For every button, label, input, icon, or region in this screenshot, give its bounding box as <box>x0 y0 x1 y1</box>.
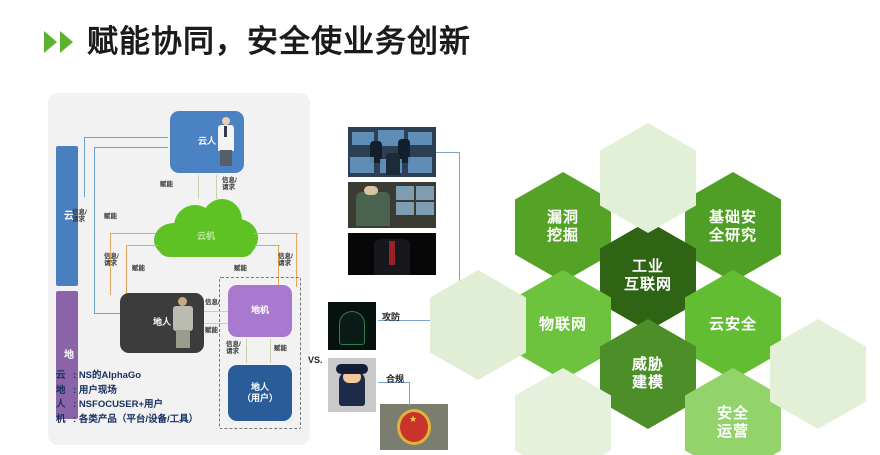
hex-cell[interactable]: 基础安全研究 <box>685 172 781 282</box>
label-attack-defense: 攻防 <box>382 310 400 323</box>
hex-cell[interactable]: 漏洞挖掘 <box>515 172 611 282</box>
legend-row: 人 : NSFOCUSER+用户 <box>56 398 226 413</box>
node-cloud-person-label: 云人 <box>198 136 216 147</box>
hex-cell-label: 工业互联网 <box>624 258 672 293</box>
hooded-hacker-photo <box>328 302 376 350</box>
hex-cell-label: 云安全 <box>709 316 757 334</box>
node-ground-user-label: 地人 （用户） <box>242 382 278 405</box>
edge-label-empower: 赋能 <box>234 265 247 272</box>
legend-key: 人 <box>56 398 73 413</box>
hex-cell[interactable]: 威胁建模 <box>600 319 696 429</box>
connector-line <box>94 313 120 314</box>
legend-row: 地 : 用户现场 <box>56 384 226 399</box>
hex-cell-empty <box>430 270 526 380</box>
connector-line <box>84 137 168 138</box>
legend-key: 地 <box>56 384 73 399</box>
hexagon-cluster: 漏洞挖掘基础安全研究工业互联网物联网云安全威胁建模安全运营 <box>466 100 880 455</box>
suited-figure-photo <box>348 233 436 275</box>
hex-cell-label: 威胁建模 <box>632 356 664 391</box>
hex-cell-empty <box>770 319 866 429</box>
node-ground-user: 地人 （用户） <box>228 365 292 421</box>
cloud-ground-diagram-panel: 云 地 云人 赋能 信息/ 请求 云机 <box>48 93 310 445</box>
node-ground-person-label: 地人 <box>153 317 171 328</box>
soc-room-photo <box>348 127 436 177</box>
edge-label-info-request: 信息/ 请求 <box>226 341 241 356</box>
connector-line <box>126 245 158 246</box>
hex-cell[interactable]: 物联网 <box>515 270 611 380</box>
slide-canvas: 赋能协同，安全使业务创新 云 地 云人 赋能 信息/ 请求 <box>0 0 880 455</box>
national-emblem-photo: ★ <box>380 404 448 450</box>
connector-line <box>94 147 168 148</box>
legend-value: NS的AlphaGo <box>79 369 141 384</box>
connector-line <box>204 323 228 324</box>
edge-label-empower: 赋能 <box>205 327 218 334</box>
node-ground-machine-label: 地机 <box>251 305 269 316</box>
node-cloud-machine-label: 云机 <box>154 229 258 242</box>
label-versus: VS. <box>308 355 323 365</box>
connector-line <box>254 245 280 246</box>
connector-line <box>198 175 199 199</box>
edge-label-empower: 赋能 <box>104 213 117 220</box>
hex-cell[interactable]: 工业互联网 <box>600 221 696 331</box>
edge-label-empower: 赋能 <box>160 181 173 188</box>
hex-cell-empty <box>515 368 611 455</box>
edge-label-info-request: 信息/ 请求 <box>104 253 119 268</box>
connector-line <box>409 382 410 406</box>
police-cartoon-photo <box>328 358 376 412</box>
node-ground-person: 地人 <box>120 293 204 353</box>
hex-cell-label: 漏洞挖掘 <box>547 209 579 244</box>
edge-label-info-request: 信息/ 请求 <box>278 253 293 268</box>
operator-workstation-photo <box>348 182 436 228</box>
connector-line <box>126 245 127 295</box>
legend-row: 机 : 各类产品（平台/设备/工具） <box>56 413 226 428</box>
edge-label-empower: 赋能 <box>274 345 287 352</box>
connector-line <box>94 147 95 313</box>
hex-cell-label: 安全运营 <box>717 405 749 440</box>
connector-line <box>110 233 156 234</box>
edge-label-info-request: 信息/ 请求 <box>72 209 87 224</box>
connector-line <box>204 311 228 312</box>
connector-line <box>216 175 217 199</box>
connector-line <box>270 339 271 363</box>
legend-key: 云 <box>56 369 73 384</box>
hex-cell[interactable]: 云安全 <box>685 270 781 380</box>
person-figure-icon <box>171 297 195 349</box>
axis-bar-ground-label: 地 <box>60 349 75 361</box>
hex-cell-label: 物联网 <box>539 316 587 334</box>
edge-label-empower: 赋能 <box>132 265 145 272</box>
page-title-text: 赋能协同，安全使业务创新 <box>87 26 471 57</box>
connector-line <box>436 152 460 153</box>
node-cloud-person: 云人 <box>170 111 244 173</box>
hex-cell-empty <box>600 123 696 233</box>
legend-key: 机 <box>56 413 73 428</box>
hex-cell[interactable]: 安全运营 <box>685 368 781 455</box>
legend-value: NSFOCUSER+用户 <box>79 398 163 413</box>
label-compliance: 合规 <box>386 372 404 385</box>
legend-value: 各类产品（平台/设备/工具） <box>79 413 198 428</box>
hex-cell-label: 基础安全研究 <box>709 209 757 244</box>
page-title: 赋能协同，安全使业务创新 <box>44 26 471 57</box>
connector-line <box>246 339 247 363</box>
node-cloud-machine: 云机 <box>154 199 258 257</box>
diagram-legend: 云 : NS的AlphaGo 地 : 用户现场 人 : NSFOCUSER+用户… <box>56 369 226 428</box>
edge-label-info-request: 信息/ 请求 <box>222 177 237 192</box>
connector-line <box>84 137 85 197</box>
legend-value: 用户现场 <box>79 384 117 399</box>
legend-row: 云 : NS的AlphaGo <box>56 369 226 384</box>
double-arrow-icon <box>44 31 73 53</box>
edge-label-info-request: 信息/ <box>205 299 220 306</box>
node-ground-machine: 地机 <box>228 285 292 337</box>
person-figure-icon <box>216 117 236 167</box>
connector-line <box>254 233 298 234</box>
